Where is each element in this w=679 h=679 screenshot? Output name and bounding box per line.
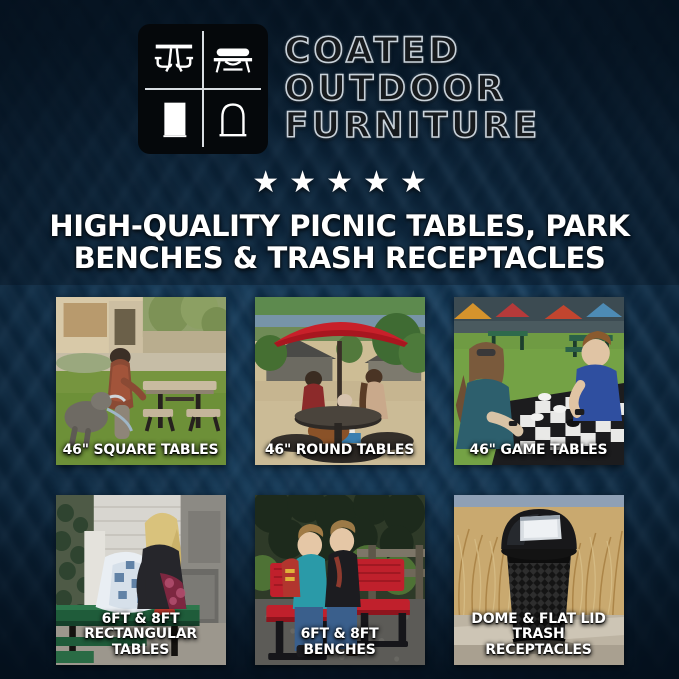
- tile-image-round-tables: [255, 297, 425, 465]
- bench-icon: [204, 31, 261, 88]
- tile-caption-square-tables: 46" SQUARE TABLES: [56, 443, 226, 458]
- tile-caption-game-tables: 46" GAME TABLES: [454, 443, 624, 458]
- logo-wordmark: COATED OUTDOOR FURNITURE: [284, 33, 540, 144]
- tile-image-square-tables: [56, 297, 226, 465]
- logo-line-2: OUTDOOR: [284, 71, 540, 107]
- product-tile-round-tables[interactable]: 46" ROUND TABLES: [255, 297, 425, 465]
- caption-line-1: DOME & FLAT LID: [458, 612, 620, 627]
- star-icon: ★: [326, 168, 353, 198]
- brand-logo: COATED OUTDOOR FURNITURE: [0, 0, 679, 154]
- trash-receptacle-icon: [145, 90, 202, 147]
- caption-line-1: 6FT & 8FT: [259, 627, 421, 642]
- tile-image-game-tables: [454, 297, 624, 465]
- tile-caption-trash-receptacles: DOME & FLAT LID TRASH RECEPTACLES: [454, 612, 624, 658]
- product-tile-trash-receptacles[interactable]: DOME & FLAT LID TRASH RECEPTACLES: [454, 495, 624, 665]
- logo-icon-grid: [138, 24, 268, 154]
- bike-rack-icon: [204, 90, 261, 147]
- caption-line-1: 46" GAME TABLES: [458, 443, 620, 458]
- product-tile-grid: 46" SQUARE TABLES: [56, 297, 624, 665]
- caption-line-1: 46" ROUND TABLES: [259, 443, 421, 458]
- product-tile-benches[interactable]: 6FT & 8FT BENCHES: [255, 495, 425, 665]
- star-icon: ★: [363, 168, 390, 198]
- product-tile-rectangular-tables[interactable]: 6FT & 8FT RECTANGULAR TABLES: [56, 495, 226, 665]
- caption-line-2: RECTANGULAR TABLES: [60, 627, 222, 658]
- caption-line-2: TRASH RECEPTACLES: [458, 627, 620, 658]
- product-tile-square-tables[interactable]: 46" SQUARE TABLES: [56, 297, 226, 465]
- caption-line-1: 46" SQUARE TABLES: [60, 443, 222, 458]
- star-icon: ★: [289, 168, 316, 198]
- tile-caption-rectangular-tables: 6FT & 8FT RECTANGULAR TABLES: [56, 612, 226, 658]
- tile-caption-benches: 6FT & 8FT BENCHES: [255, 627, 425, 658]
- product-tile-game-tables[interactable]: 46" GAME TABLES: [454, 297, 624, 465]
- caption-line-1: 6FT & 8FT: [60, 612, 222, 627]
- star-icon: ★: [252, 168, 279, 198]
- headline-line-1: HIGH-QUALITY PICNIC TABLES, PARK: [40, 210, 639, 242]
- star-rating: ★ ★ ★ ★ ★: [0, 168, 679, 198]
- picnic-table-icon: [145, 31, 202, 88]
- headline-line-2: BENCHES & TRASH RECEPTACLES: [40, 242, 639, 274]
- tile-caption-round-tables: 46" ROUND TABLES: [255, 443, 425, 458]
- logo-line-3: FURNITURE: [284, 108, 540, 144]
- logo-line-1: COATED: [284, 33, 540, 69]
- page-title: HIGH-QUALITY PICNIC TABLES, PARK BENCHES…: [0, 210, 679, 275]
- poster-content: COATED OUTDOOR FURNITURE ★ ★ ★ ★ ★ HIGH-…: [0, 0, 679, 679]
- star-icon: ★: [400, 168, 427, 198]
- caption-line-2: BENCHES: [259, 643, 421, 658]
